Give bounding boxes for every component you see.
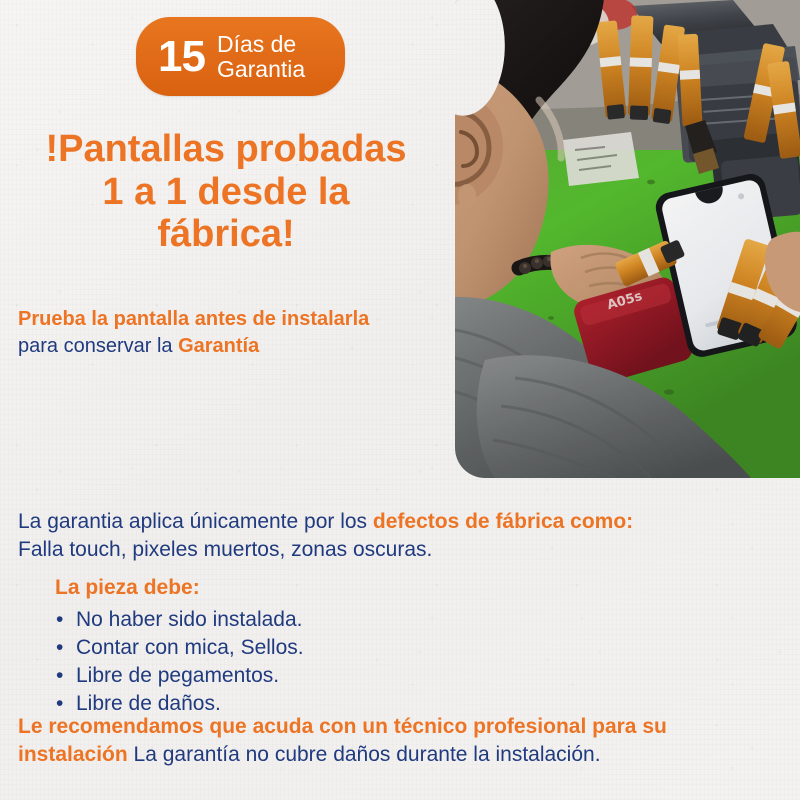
warranty-poster: A05s	[0, 0, 800, 800]
list-item: Contar con mica, Sellos.	[56, 634, 304, 662]
conditions-list: No haber sido instalada. Contar con mica…	[56, 606, 304, 718]
footer-strong-line-2: instalación	[18, 743, 128, 766]
footer-line-2: instalación La garantía no cubre daños d…	[18, 741, 793, 769]
subtitle-block: Prueba la pantalla antes de instalarla p…	[18, 306, 458, 360]
coverage-plain-text: La garantia aplica únicamente por los	[18, 510, 367, 533]
headline: !Pantallas probadas 1 a 1 desde la fábri…	[0, 128, 452, 256]
badge-line-garantia: Garantia	[217, 56, 305, 82]
badge-number: 15	[158, 35, 205, 79]
badge-line-dias: Días de	[217, 31, 296, 57]
subtitle-line-2: para conservar la Garantía	[18, 333, 458, 360]
coverage-strong-text: defectos de fábrica como:	[373, 510, 633, 533]
conditions-heading: La pieza debe:	[55, 576, 200, 600]
subtitle-plain-text: para conservar la	[18, 335, 173, 357]
badge-text: Días de Garantia	[217, 32, 305, 82]
subtitle-garantia-text: Garantía	[178, 335, 259, 357]
warranty-coverage-paragraph: La garantia aplica únicamente por los de…	[18, 508, 788, 563]
coverage-line-2: Falla touch, pixeles muertos, zonas oscu…	[18, 536, 788, 564]
photo-clip-mask: A05s	[455, 0, 800, 478]
footer-line-1: Le recomendamos que acuda con un técnico…	[18, 713, 793, 741]
coverage-line-1: La garantia aplica únicamente por los de…	[18, 508, 788, 536]
headline-line-2: 1 a 1 desde la	[0, 171, 452, 214]
list-item: No haber sido instalada.	[56, 606, 304, 634]
subtitle-line-1: Prueba la pantalla antes de instalarla	[18, 306, 458, 333]
list-item: Libre de pegamentos.	[56, 662, 304, 690]
footer-strong-line-1: Le recomendamos que acuda con un técnico…	[18, 715, 667, 738]
headline-line-3: fábrica!	[0, 213, 452, 256]
footer-plain-text: La garantía no cubre daños durante la in…	[134, 743, 601, 766]
technician-testing-screen-photo: A05s	[455, 0, 800, 478]
footer-recommendation: Le recomendamos que acuda con un técnico…	[18, 713, 793, 768]
warranty-days-badge: 15 Días de Garantia	[136, 17, 345, 96]
workbench-scene-illustration: A05s	[455, 0, 800, 478]
headline-line-1: !Pantallas probadas	[0, 128, 452, 171]
